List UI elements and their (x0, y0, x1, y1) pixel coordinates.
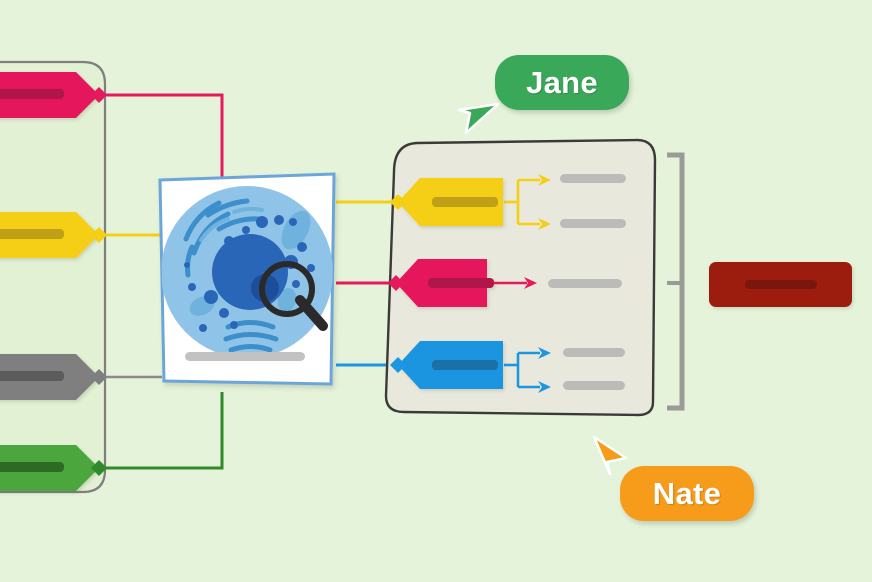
placeholder-bar-2 (560, 219, 626, 228)
mindmap-canvas: Jane Nate (0, 0, 872, 582)
left-group-container[interactable] (0, 62, 105, 492)
card-caption-bar (185, 352, 305, 361)
nate-cursor-arrow (594, 437, 626, 474)
collaborator-label-nate: Nate (653, 476, 721, 512)
jane-cursor-arrow (459, 104, 498, 133)
collaborator-cursor-nate[interactable]: Nate (620, 466, 754, 521)
placeholder-bar-3 (548, 279, 622, 288)
right-node-blue[interactable] (398, 341, 503, 389)
collaborator-label-jane: Jane (526, 65, 598, 101)
right-node-yellow[interactable] (398, 178, 503, 226)
collaborator-cursor-jane[interactable]: Jane (495, 55, 629, 110)
placeholder-bar-1 (560, 174, 626, 183)
placeholder-bar-4 (563, 348, 625, 357)
summary-node[interactable] (709, 262, 852, 307)
group-bracket (667, 155, 682, 408)
placeholder-bar-5 (563, 381, 625, 390)
connector-green-left (106, 392, 222, 468)
cell-image-card[interactable] (160, 174, 334, 384)
